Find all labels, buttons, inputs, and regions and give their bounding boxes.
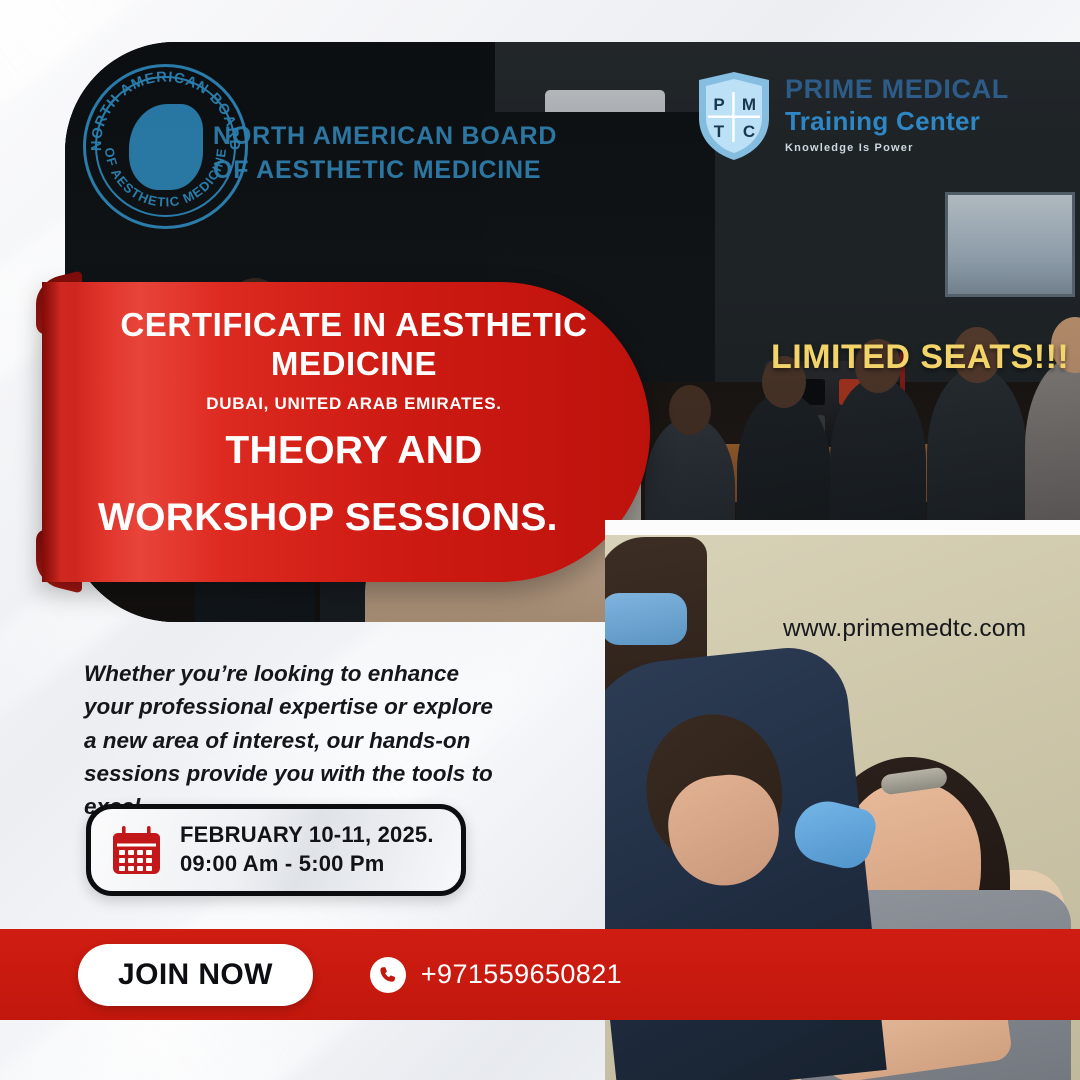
pmtc-tagline: Knowledge Is Power bbox=[785, 142, 1035, 154]
nabam-arc-bottom: OF AESTHETIC MEDICINE bbox=[102, 147, 229, 210]
pmtc-wordmark: PRIME MEDICAL Training Center Knowledge … bbox=[785, 74, 1035, 154]
phone-contact[interactable]: +971559650821 bbox=[369, 956, 622, 994]
join-now-button[interactable]: JOIN NOW bbox=[78, 944, 313, 1006]
nabam-wordmark-line2: OF AESTHETIC MEDICINE bbox=[213, 154, 633, 188]
svg-text:T: T bbox=[714, 122, 725, 141]
shield-icon: P M T C bbox=[695, 70, 773, 162]
phone-number: +971559650821 bbox=[421, 959, 622, 990]
pmtc-logo-block: P M T C PRIME MEDICAL Training Center Kn… bbox=[695, 62, 1005, 182]
description-paragraph: Whether you’re looking to enhance your p… bbox=[84, 657, 494, 823]
date-time-pill: FEBRUARY 10-11, 2025. 09:00 Am - 5:00 Pm bbox=[86, 804, 466, 896]
website-url: www.primemedtc.com bbox=[783, 615, 1026, 643]
course-location: DUBAI, UNITED ARAB EMIRATES. bbox=[206, 394, 501, 414]
nabam-wordmark: NORTH AMERICAN BOARD OF AESTHETIC MEDICI… bbox=[213, 120, 633, 188]
pmtc-subtitle: Training Center bbox=[785, 106, 1035, 137]
nabam-wordmark-line1: NORTH AMERICAN BOARD bbox=[213, 120, 633, 154]
photo-face-mask bbox=[605, 593, 687, 645]
event-date: FEBRUARY 10-11, 2025. bbox=[180, 821, 434, 850]
ribbon-content: CERTIFICATE IN AESTHETIC MEDICINE DUBAI,… bbox=[42, 282, 650, 582]
date-time-text: FEBRUARY 10-11, 2025. 09:00 Am - 5:00 Pm bbox=[180, 821, 434, 878]
course-subtitle-line1: THEORY AND bbox=[225, 428, 482, 473]
course-title: CERTIFICATE IN AESTHETIC MEDICINE bbox=[119, 306, 589, 384]
course-subtitle-line2: WORKSHOP SESSIONS. bbox=[94, 495, 558, 540]
svg-text:OF AESTHETIC MEDICINE: OF AESTHETIC MEDICINE bbox=[102, 147, 229, 210]
ribbon-banner: CERTIFICATE IN AESTHETIC MEDICINE DUBAI,… bbox=[36, 282, 656, 582]
photo-separator bbox=[605, 520, 1080, 536]
event-time: 09:00 Am - 5:00 Pm bbox=[180, 850, 434, 879]
cta-bar-photo-overlap bbox=[605, 929, 1080, 1020]
ribbon-body: CERTIFICATE IN AESTHETIC MEDICINE DUBAI,… bbox=[42, 282, 650, 582]
svg-text:M: M bbox=[742, 95, 756, 114]
svg-text:P: P bbox=[713, 95, 724, 114]
pmtc-title: PRIME MEDICAL bbox=[785, 74, 1035, 105]
flyer-canvas: NORTH AMERICAN BOARD OF AESTHETIC MEDICI… bbox=[0, 0, 1080, 1080]
calendar-icon bbox=[109, 823, 164, 878]
limited-seats-label: LIMITED SEATS!!! bbox=[771, 338, 1069, 377]
svg-text:C: C bbox=[743, 122, 755, 141]
phone-icon bbox=[369, 956, 407, 994]
